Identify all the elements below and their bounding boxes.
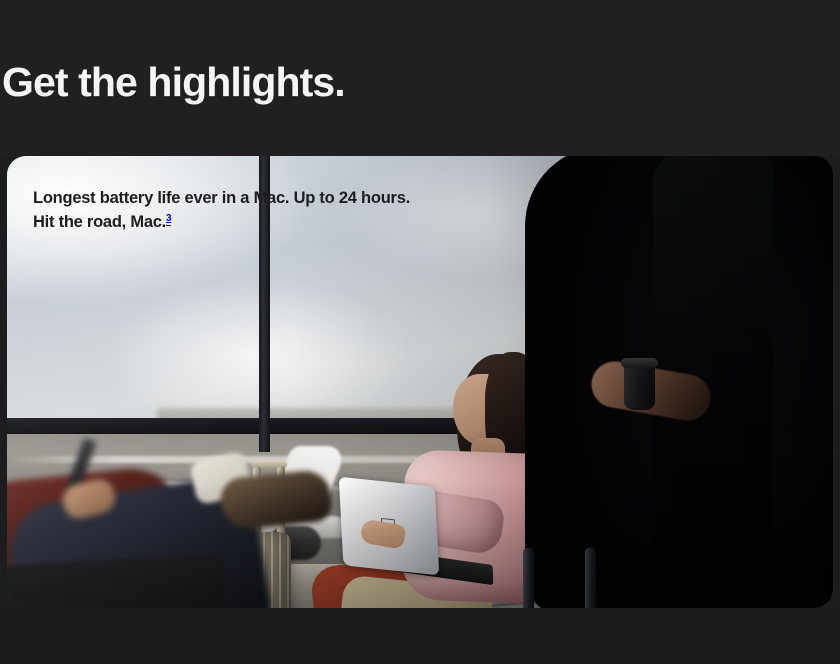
highlight-caption: Longest battery life ever in a Mac. Up t… bbox=[33, 186, 413, 234]
silhouette-torso bbox=[653, 156, 773, 566]
highlight-card[interactable]:  bbox=[7, 156, 833, 608]
burgundy-suitcase-handle-2 bbox=[585, 548, 596, 608]
burgundy-suitcase-handle-1 bbox=[523, 548, 534, 608]
coffee-cup-lid bbox=[621, 358, 658, 368]
footnote-reference-link[interactable]: 3 bbox=[166, 213, 171, 226]
caption-line-1: Longest battery life ever in a Mac. Up t… bbox=[33, 189, 357, 207]
page-footer bbox=[0, 608, 840, 664]
page-header: Get the highlights. bbox=[0, 0, 840, 156]
coffee-cup bbox=[624, 362, 655, 410]
macbook-laptop:  bbox=[341, 482, 471, 592]
page-title: Get the highlights. bbox=[2, 58, 345, 106]
